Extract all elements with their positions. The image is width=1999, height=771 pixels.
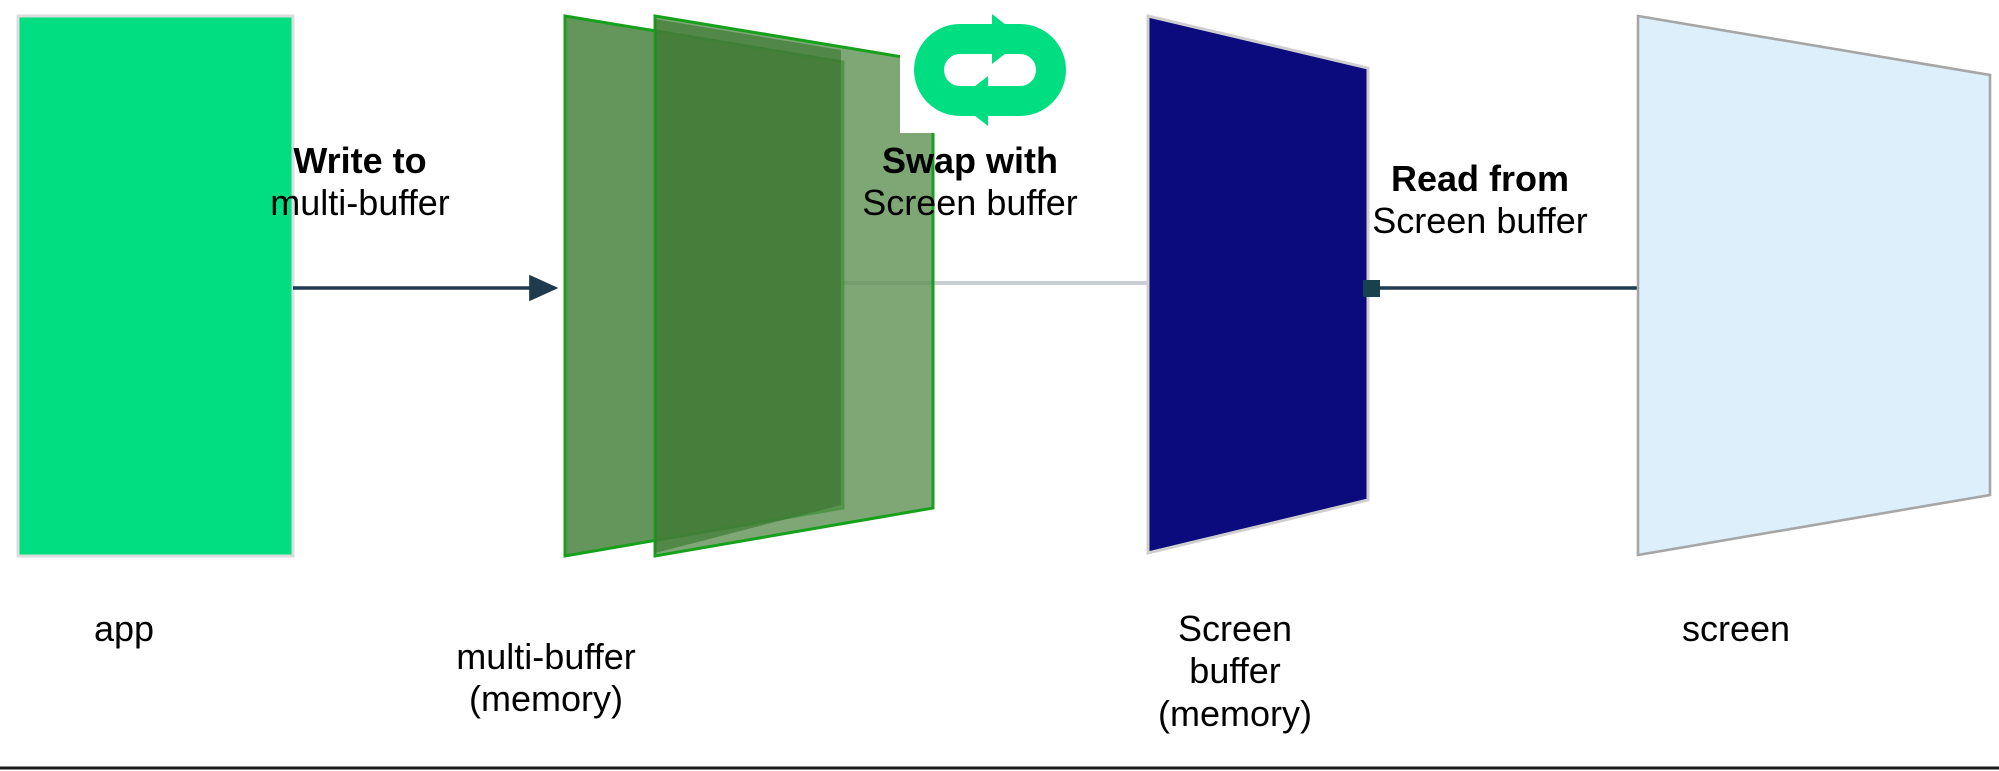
edge-swap-line2: Screen buffer — [840, 182, 1100, 224]
screen-buffer-trapezoid[interactable] — [1148, 16, 1368, 553]
node-screen[interactable] — [1638, 16, 1990, 555]
edge-write-line2: multi-buffer — [240, 182, 480, 224]
edge-write-line1: Write to — [240, 140, 480, 182]
edge-label-write: Write to multi-buffer — [240, 140, 480, 224]
multi-buffer-slab-front[interactable] — [655, 16, 933, 556]
node-multi-buffer[interactable] — [565, 16, 933, 556]
edge-read-from-screen-buffer — [1363, 280, 1638, 297]
edge-read-line2: Screen buffer — [1350, 200, 1610, 242]
diagram-canvas: Write to multi-buffer Swap with Screen b… — [0, 0, 1999, 771]
app-rect[interactable] — [18, 16, 293, 556]
edge-read-line1: Read from — [1350, 158, 1610, 200]
node-screen-buffer[interactable] — [1148, 16, 1368, 553]
edge-label-read: Read from Screen buffer — [1350, 158, 1610, 242]
node-app[interactable] — [18, 16, 293, 556]
edge-label-swap: Swap with Screen buffer — [840, 140, 1100, 224]
swap-loop-icon — [900, 8, 1080, 133]
screen-trapezoid[interactable] — [1638, 16, 1990, 555]
read-source-square-marker — [1363, 280, 1380, 297]
edge-swap-line1: Swap with — [840, 140, 1100, 182]
